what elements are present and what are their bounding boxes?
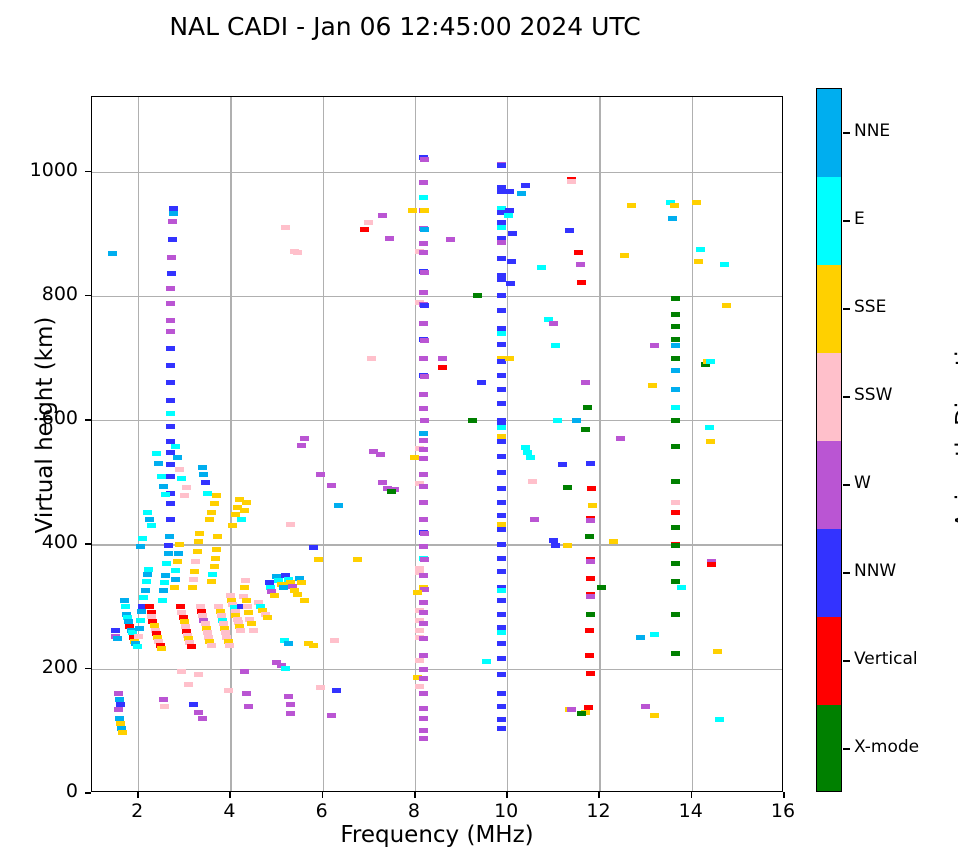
data-point — [169, 211, 178, 216]
data-point — [549, 321, 558, 326]
data-point — [160, 580, 169, 585]
data-point — [145, 517, 154, 522]
data-point — [497, 439, 506, 444]
data-point — [159, 484, 168, 489]
data-point — [720, 262, 729, 267]
data-point — [180, 493, 189, 498]
data-point — [177, 669, 186, 674]
data-point — [165, 534, 174, 539]
x-tick-label: 4 — [209, 802, 249, 821]
data-point — [671, 579, 680, 584]
data-point — [648, 383, 657, 388]
colorbar-tick — [843, 572, 850, 574]
data-point — [722, 303, 731, 308]
data-point — [385, 236, 394, 241]
colorbar-label-x-mode: X-mode — [854, 739, 919, 756]
data-point — [237, 517, 246, 522]
data-point — [671, 500, 680, 505]
data-point — [142, 579, 151, 584]
data-point — [517, 191, 526, 196]
colorbar-label-ssw: SSW — [854, 387, 892, 404]
data-point — [419, 250, 428, 255]
data-point — [166, 286, 175, 291]
data-point — [166, 501, 175, 506]
data-point — [650, 713, 659, 718]
data-point — [671, 561, 680, 566]
data-point — [189, 577, 198, 582]
data-point — [419, 472, 428, 477]
gridline-vertical — [599, 97, 600, 791]
data-point — [419, 392, 428, 397]
data-point — [316, 472, 325, 477]
data-point — [671, 444, 680, 449]
x-tick-mark — [229, 792, 231, 798]
colorbar-segment-w — [817, 441, 841, 530]
data-point — [497, 470, 506, 475]
y-axis-title: Virtual height (km) — [32, 255, 58, 595]
data-point — [581, 427, 590, 432]
data-point — [173, 559, 182, 564]
data-point — [419, 621, 428, 626]
data-point — [563, 485, 572, 490]
data-point — [446, 237, 455, 242]
data-point — [671, 510, 680, 515]
gridline-vertical — [230, 97, 231, 791]
data-point — [497, 612, 506, 617]
data-point — [671, 343, 680, 348]
data-point — [707, 562, 716, 567]
data-point — [334, 503, 343, 508]
data-point — [528, 479, 537, 484]
data-point — [378, 480, 387, 485]
x-tick-mark — [691, 792, 693, 798]
data-point — [497, 331, 506, 336]
data-point — [508, 231, 517, 236]
data-point — [187, 644, 196, 649]
data-point — [138, 536, 147, 541]
data-point — [166, 329, 175, 334]
data-point — [419, 600, 428, 605]
data-point — [671, 405, 680, 410]
data-point — [586, 576, 595, 581]
data-point — [696, 247, 705, 252]
gridline-vertical — [507, 97, 508, 791]
data-point — [286, 522, 295, 527]
data-point — [706, 439, 715, 444]
y-tick-mark — [85, 668, 91, 670]
data-point — [482, 659, 491, 664]
data-point — [177, 476, 186, 481]
data-point — [419, 406, 428, 411]
data-point — [609, 539, 618, 544]
data-point — [506, 281, 515, 286]
data-point — [497, 630, 506, 635]
data-point — [166, 411, 175, 416]
data-point — [300, 436, 309, 441]
colorbar-tick — [843, 748, 850, 750]
data-point — [225, 643, 234, 648]
data-point — [314, 557, 323, 562]
data-point — [211, 556, 220, 561]
data-point — [143, 510, 152, 515]
data-point — [242, 598, 251, 603]
data-point — [551, 543, 560, 548]
data-point — [586, 594, 595, 599]
data-point — [497, 641, 506, 646]
data-point — [553, 418, 562, 423]
data-point — [332, 688, 341, 693]
data-point — [243, 604, 252, 609]
data-point — [671, 387, 680, 392]
colorbar-title: Azimuth Direction — [952, 255, 958, 595]
data-point — [419, 356, 428, 361]
data-point — [136, 544, 145, 549]
x-axis-title: Frequency (MHz) — [91, 822, 783, 848]
data-point — [419, 610, 428, 615]
data-point — [713, 649, 722, 654]
data-point — [504, 213, 513, 218]
data-point — [497, 513, 506, 518]
data-point — [468, 418, 477, 423]
y-tick-mark — [85, 792, 91, 794]
data-point — [136, 618, 145, 623]
data-point — [171, 444, 180, 449]
data-point — [420, 157, 429, 162]
data-point — [671, 312, 680, 317]
data-point — [585, 534, 594, 539]
data-point — [497, 569, 506, 574]
data-point — [585, 628, 594, 633]
data-point — [158, 598, 167, 603]
data-point — [692, 200, 701, 205]
data-point — [286, 711, 295, 716]
data-point — [360, 227, 369, 232]
data-point — [364, 220, 373, 225]
x-tick-label: 6 — [302, 802, 342, 821]
data-point — [281, 666, 290, 671]
data-point — [141, 588, 150, 593]
data-point — [438, 356, 447, 361]
data-point — [208, 572, 217, 577]
azimuth-colorbar — [816, 88, 842, 792]
gridline-vertical — [138, 97, 139, 791]
data-point — [190, 569, 199, 574]
data-point — [228, 523, 237, 528]
data-point — [120, 598, 129, 603]
y-tick-mark — [85, 543, 91, 545]
data-point — [316, 685, 325, 690]
data-point — [161, 573, 170, 578]
data-point — [497, 293, 506, 298]
data-point — [166, 424, 175, 429]
data-point — [415, 628, 424, 633]
data-point — [497, 717, 506, 722]
data-point — [650, 343, 659, 348]
data-point — [166, 363, 175, 368]
x-tick-label: 2 — [117, 802, 157, 821]
data-point — [330, 638, 339, 643]
data-point — [419, 716, 428, 721]
colorbar-label-w: W — [854, 475, 871, 492]
data-point — [420, 303, 429, 308]
data-point — [497, 401, 506, 406]
data-point — [286, 702, 295, 707]
data-point — [419, 500, 428, 505]
data-point — [173, 455, 182, 460]
data-point — [160, 704, 169, 709]
data-point — [309, 643, 318, 648]
data-point — [139, 595, 148, 600]
data-point — [419, 438, 428, 443]
data-point — [207, 510, 216, 515]
data-point — [207, 643, 216, 648]
data-point — [671, 543, 680, 548]
x-tick-label: 10 — [486, 802, 526, 821]
x-tick-mark — [137, 792, 139, 798]
data-point — [415, 658, 424, 663]
data-point — [212, 547, 221, 552]
ionogram-plot — [91, 96, 783, 792]
data-point — [497, 240, 506, 245]
colorbar-segment-ssw — [817, 353, 841, 442]
data-point — [147, 523, 156, 528]
data-point — [166, 301, 175, 306]
data-point — [134, 634, 143, 639]
data-point — [194, 539, 203, 544]
data-point — [419, 676, 428, 681]
data-point — [671, 525, 680, 530]
data-point — [574, 250, 583, 255]
data-point — [530, 517, 539, 522]
data-point — [108, 251, 117, 256]
data-point — [694, 259, 703, 264]
data-point — [387, 489, 396, 494]
data-point — [297, 443, 306, 448]
x-tick-label: 14 — [671, 802, 711, 821]
data-point — [164, 543, 173, 548]
data-point — [159, 697, 168, 702]
colorbar-segment-x-mode — [817, 705, 841, 792]
x-tick-mark — [506, 792, 508, 798]
data-point — [586, 461, 595, 466]
data-point — [671, 296, 680, 301]
data-point — [497, 556, 506, 561]
data-point — [583, 405, 592, 410]
data-point — [586, 559, 595, 564]
data-point — [309, 545, 318, 550]
data-point — [671, 368, 680, 373]
data-point — [159, 588, 168, 593]
data-point — [671, 612, 680, 617]
data-point — [419, 636, 428, 641]
x-tick-mark — [598, 792, 600, 798]
data-point — [236, 628, 245, 633]
data-point — [671, 651, 680, 656]
data-point — [419, 290, 428, 295]
data-point — [242, 691, 251, 696]
data-point — [353, 557, 362, 562]
data-point — [715, 717, 724, 722]
data-point — [588, 503, 597, 508]
data-point — [176, 604, 185, 609]
data-point — [118, 730, 127, 735]
data-point — [419, 517, 428, 522]
x-tick-label: 12 — [578, 802, 618, 821]
data-point — [224, 688, 233, 693]
data-point — [166, 462, 175, 467]
data-point — [284, 641, 293, 646]
data-point — [145, 604, 154, 609]
data-point — [167, 255, 176, 260]
colorbar-segment-e — [817, 177, 841, 266]
data-point — [293, 592, 302, 597]
data-point — [507, 259, 516, 264]
data-point — [198, 465, 207, 470]
data-point — [378, 213, 387, 218]
data-point — [194, 710, 203, 715]
data-point — [419, 195, 428, 200]
data-point — [537, 265, 546, 270]
data-point — [164, 551, 173, 556]
data-point — [327, 713, 336, 718]
data-point — [650, 632, 659, 637]
colorbar-tick — [843, 484, 850, 486]
data-point — [419, 691, 428, 696]
data-point — [497, 256, 506, 261]
colorbar-segment-vertical — [817, 617, 841, 706]
data-point — [297, 580, 306, 585]
colorbar-label-nnw: NNW — [854, 563, 896, 580]
data-point — [419, 573, 428, 578]
data-point — [420, 208, 429, 213]
data-point — [113, 636, 122, 641]
data-point — [415, 684, 424, 689]
data-point — [419, 321, 428, 326]
data-point — [705, 425, 714, 430]
data-point — [572, 418, 581, 423]
data-point — [169, 206, 178, 211]
data-point — [154, 461, 163, 466]
data-point — [290, 249, 299, 254]
data-point — [567, 707, 576, 712]
data-point — [419, 667, 428, 672]
data-point — [497, 672, 506, 677]
data-point — [419, 241, 428, 246]
data-point — [408, 208, 417, 213]
data-point — [477, 380, 486, 385]
x-tick-mark — [322, 792, 324, 798]
data-point — [114, 707, 123, 712]
x-tick-label: 16 — [763, 802, 803, 821]
data-point — [505, 356, 514, 361]
data-point — [558, 462, 567, 467]
data-point — [671, 479, 680, 484]
data-point — [270, 593, 279, 598]
data-point — [171, 577, 180, 582]
data-point — [174, 551, 183, 556]
colorbar-segment-nne — [817, 89, 841, 178]
data-point — [191, 559, 200, 564]
colorbar-label-sse: SSE — [854, 299, 886, 316]
data-point — [581, 380, 590, 385]
data-point — [198, 716, 207, 721]
data-point — [551, 343, 560, 348]
x-tick-mark — [414, 792, 416, 798]
data-point — [497, 425, 506, 430]
data-point — [166, 517, 175, 522]
data-point — [212, 493, 221, 498]
data-point — [671, 337, 680, 342]
data-point — [497, 588, 506, 593]
data-point — [166, 474, 175, 479]
data-point — [111, 628, 120, 633]
data-point — [677, 585, 686, 590]
y-tick-label: 200 — [20, 658, 78, 677]
data-point — [620, 253, 629, 258]
data-point — [420, 227, 429, 232]
data-point — [597, 585, 606, 590]
data-point — [586, 518, 595, 523]
data-point — [175, 542, 184, 547]
data-point — [419, 736, 428, 741]
data-point — [210, 501, 219, 506]
data-point — [497, 454, 506, 459]
data-point — [240, 585, 249, 590]
data-point — [497, 598, 506, 603]
data-point — [240, 669, 249, 674]
data-point — [419, 456, 428, 461]
x-tick-mark — [783, 792, 785, 798]
y-tick-mark — [85, 171, 91, 173]
colorbar-label-e: E — [854, 211, 865, 228]
data-point — [497, 163, 506, 168]
data-point — [671, 418, 680, 423]
y-tick-mark — [85, 419, 91, 421]
data-point — [565, 228, 574, 233]
data-point — [157, 646, 166, 651]
data-point — [671, 324, 680, 329]
data-point — [166, 346, 175, 351]
data-point — [419, 544, 428, 549]
data-point — [497, 691, 506, 696]
data-point — [497, 500, 506, 505]
data-point — [135, 626, 144, 631]
data-point — [668, 216, 677, 221]
data-point — [587, 486, 596, 491]
data-point — [207, 579, 216, 584]
data-point — [576, 262, 585, 267]
data-point — [420, 374, 429, 379]
data-point — [213, 534, 222, 539]
data-point — [114, 691, 123, 696]
data-point — [240, 508, 249, 513]
data-point — [166, 318, 175, 323]
data-point — [194, 672, 203, 677]
data-point — [241, 578, 250, 583]
data-point — [706, 359, 715, 364]
data-point — [205, 517, 214, 522]
data-point — [420, 270, 429, 275]
data-point — [419, 447, 428, 452]
data-point — [144, 567, 153, 572]
data-point — [497, 704, 506, 709]
data-point — [505, 189, 514, 194]
data-point — [166, 398, 175, 403]
data-point — [166, 380, 175, 385]
data-point — [497, 342, 506, 347]
data-point — [497, 373, 506, 378]
data-point — [563, 543, 572, 548]
